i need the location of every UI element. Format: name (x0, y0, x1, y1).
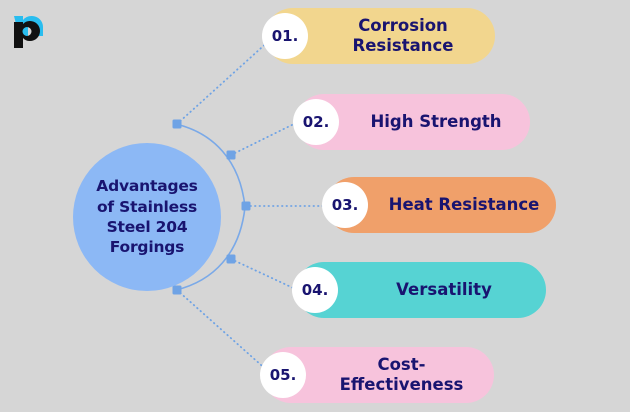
item-number-badge-5: 05. (260, 352, 306, 398)
item-number-badge-2: 02. (293, 99, 339, 145)
hub-title: Advantages of Stainless Steel 204 Forgin… (96, 176, 197, 258)
list-item[interactable]: Corrosion Resistance 01. (265, 8, 495, 64)
hub-circle: Advantages of Stainless Steel 204 Forgin… (73, 143, 221, 291)
infographic-canvas: Advantages of Stainless Steel 204 Forgin… (0, 0, 630, 412)
connector-node-2 (227, 151, 236, 160)
list-item[interactable]: Heat Resistance 03. (326, 177, 556, 233)
item-number-badge-1: 01. (262, 13, 308, 59)
item-number-badge-4: 04. (292, 267, 338, 313)
connector-node-4 (227, 255, 236, 264)
list-item[interactable]: High Strength 02. (296, 94, 530, 150)
list-item[interactable]: Versatility 04. (296, 262, 546, 318)
item-number-badge-3: 03. (322, 182, 368, 228)
connector-node-1 (173, 120, 182, 129)
connector-node-3 (242, 202, 251, 211)
connector-node-5 (173, 286, 182, 295)
list-item[interactable]: Cost- Effectiveness 05. (263, 347, 494, 403)
